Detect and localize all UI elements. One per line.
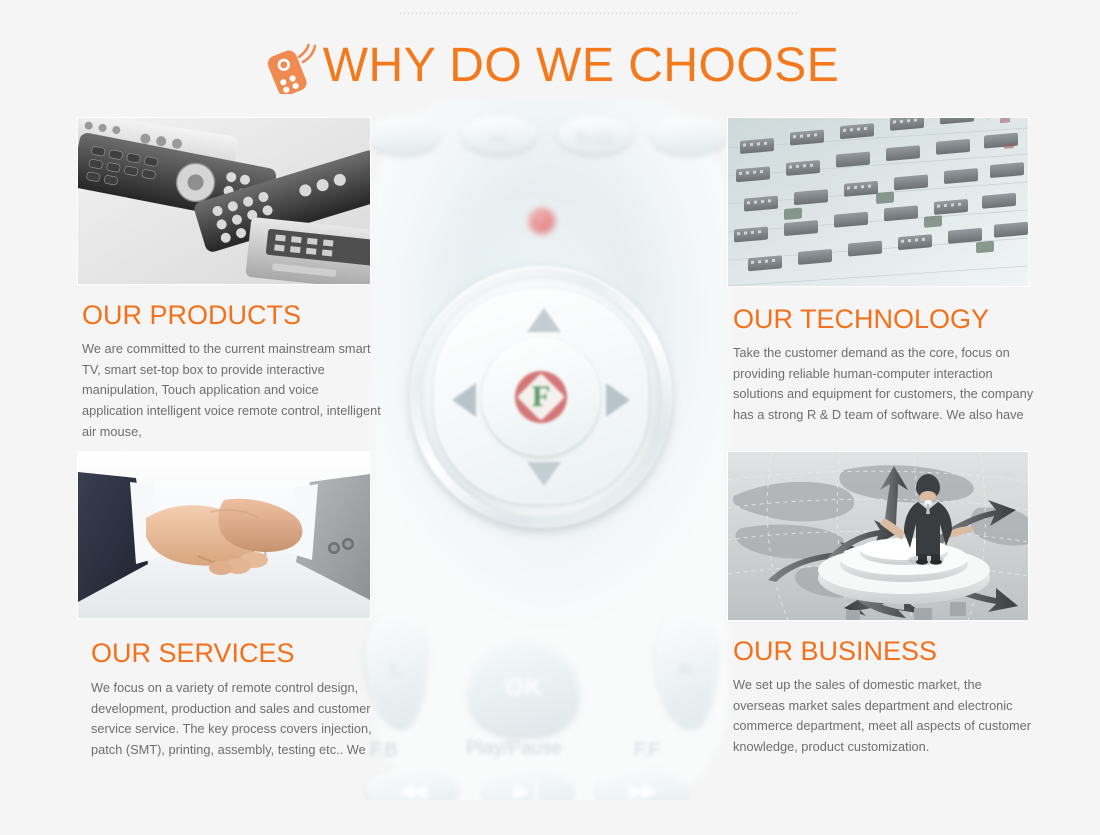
dpad-right-arrow-icon — [606, 383, 630, 417]
remote-dpad: F — [410, 266, 672, 528]
remote-control-illustration: AV SVCD F L R OK F.B Play/Pause F.F ◀◀ ▶… — [352, 100, 748, 800]
feature-card-services: OUR SERVICES We focus on a variety of re… — [78, 452, 383, 761]
remote-caption-play-pause: Play/Pause — [466, 738, 562, 760]
top-dotted-divider — [400, 13, 800, 14]
logo-letter: F — [515, 371, 567, 423]
card-title-business: OUR BUSINESS — [733, 638, 1037, 665]
brand-logo-icon: F — [515, 371, 567, 423]
card-body-technology: Take the customer demand as the core, fo… — [733, 343, 1037, 426]
card-body-services: We focus on a variety of remote control … — [91, 678, 383, 761]
dpad-center-button: F — [482, 338, 600, 456]
dpad-left-arrow-icon — [452, 383, 476, 417]
remote-top-button-4 — [652, 116, 726, 154]
remote-control-signal-icon — [261, 40, 317, 94]
card-body-business: We set up the sales of domestic market, … — [733, 675, 1037, 758]
remote-led-indicator — [529, 208, 555, 234]
business-handshake-photo — [78, 452, 370, 618]
feature-card-products: OUR PRODUCTS We are committed to the cur… — [78, 118, 382, 443]
stacked-tv-remote-controls-photo — [78, 118, 370, 284]
dpad-up-arrow-icon — [527, 308, 561, 332]
circuit-board-chips-photo — [728, 118, 1028, 286]
card-body-products: We are committed to the current mainstre… — [82, 339, 382, 443]
page-header: WHY DO WE CHOOSE — [0, 36, 1100, 96]
businessman-world-map-arrows-photo — [728, 452, 1028, 620]
card-title-products: OUR PRODUCTS — [82, 302, 382, 329]
dpad-down-arrow-icon — [527, 462, 561, 486]
page-title: WHY DO WE CHOOSE — [323, 42, 839, 90]
feature-card-technology: OUR TECHNOLOGY Take the customer demand … — [728, 118, 1037, 426]
remote-top-button-av: AV — [462, 116, 536, 154]
card-title-technology: OUR TECHNOLOGY — [733, 306, 1037, 333]
card-title-services: OUR SERVICES — [91, 640, 383, 667]
remote-caption-ff: F.F — [634, 740, 660, 762]
remote-top-button-svcd: SVCD — [558, 116, 632, 154]
feature-card-business: OUR BUSINESS We set up the sales of dome… — [728, 452, 1037, 758]
